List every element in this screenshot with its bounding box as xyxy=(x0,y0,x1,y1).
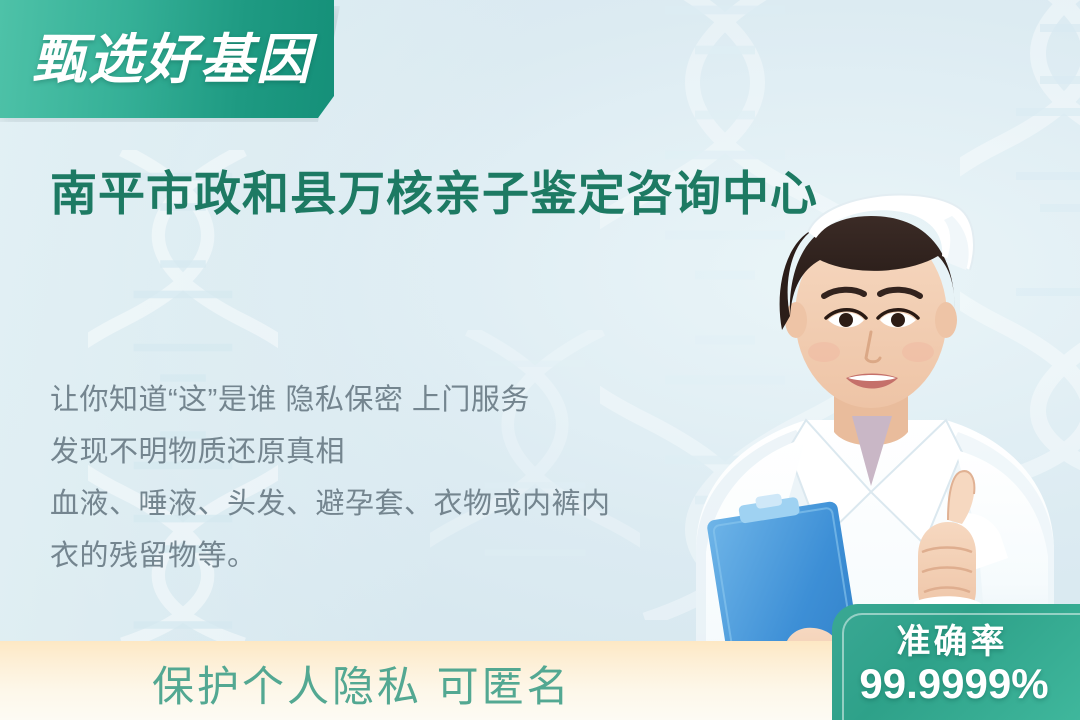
page-title: 南平市政和县万核亲子鉴定咨询中心 xyxy=(50,162,860,227)
footer-tagline: 保护个人隐私 可匿名 xyxy=(152,653,572,714)
promo-poster: 甄选好基因 南平市政和县万核亲子鉴定咨询中心 让你知道“这”是谁 隐私保密 上门… xyxy=(0,0,1080,720)
body-line-1: 让你知道“这”是谁 隐私保密 上门服务 xyxy=(50,374,750,426)
brand-ribbon-text: 甄选好基因 xyxy=(32,18,312,100)
body-line-3: 血液、唾液、头发、避孕套、衣物或内裤内 xyxy=(50,478,750,530)
accuracy-label: 准确率 xyxy=(832,614,1072,663)
accuracy-badge: 准确率 99.9999% xyxy=(832,604,1080,720)
body-line-2: 发现不明物质还原真相 xyxy=(50,426,750,478)
brand-ribbon: 甄选好基因 xyxy=(0,0,360,132)
body-copy: 让你知道“这”是谁 隐私保密 上门服务 发现不明物质还原真相 血液、唾液、头发、… xyxy=(50,374,750,582)
accuracy-value: 99.9999% xyxy=(832,660,1076,708)
body-line-4: 衣的残留物等。 xyxy=(50,530,750,582)
